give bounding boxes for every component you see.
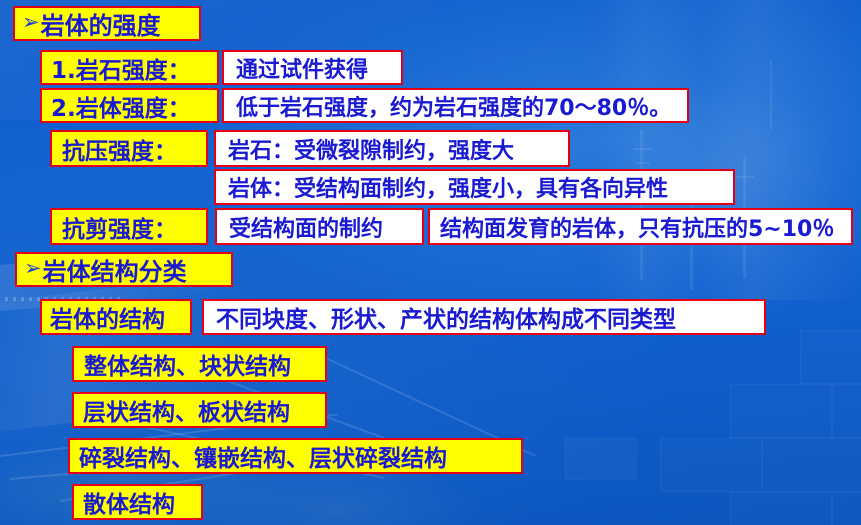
background-brick: [832, 384, 861, 438]
label-text: 1.岩石强度：: [51, 51, 191, 85]
background-brick-pattern: [560, 330, 861, 525]
label-rock-mass-strength: 2.岩体强度：: [40, 88, 219, 123]
value-text: 结构面发育的岩体，只有抗压的5~10％: [440, 211, 834, 243]
section-heading-rock-mass-structure-classification: ➢岩体结构分类: [15, 252, 233, 287]
value-text: 岩石：受微裂隙制约，强度大: [228, 133, 514, 165]
background-brick: [565, 438, 637, 480]
structure-type-item: 散体结构: [72, 484, 203, 520]
structure-type-item: 层状结构、板状结构: [72, 392, 327, 428]
value-text: 通过试件获得: [236, 52, 368, 84]
structure-type-item: 整体结构、块状结构: [72, 346, 327, 382]
presentation-slide: ➢岩体的强度 1.岩石强度： 通过试件获得 2.岩体强度： 低于岩石强度，约为岩…: [0, 0, 861, 525]
structure-type-label: 层状结构、板状结构: [83, 393, 290, 427]
background-tower-mast: [770, 60, 772, 130]
background-tower-arm: [636, 162, 650, 164]
section-heading-rock-mass-strength: ➢岩体的强度: [13, 6, 201, 41]
background-brick: [730, 492, 832, 525]
label-rock-strength: 1.岩石强度：: [40, 50, 219, 85]
background-tower-arm: [633, 148, 653, 150]
section-heading-label: 岩体结构分类: [43, 252, 187, 287]
structure-type-label: 碎裂结构、镶嵌结构、层状碎裂结构: [79, 439, 447, 473]
structure-type-label: 散体结构: [83, 485, 175, 519]
label-text: 岩体的结构: [50, 300, 165, 334]
label-shear-strength: 抗剪强度：: [50, 208, 208, 245]
background-brick: [762, 438, 861, 492]
value-text: 受结构面的制约: [229, 211, 383, 243]
value-text: 岩体：受结构面制约，强度小，具有各向异性: [228, 171, 668, 203]
value-rock-strength: 通过试件获得: [222, 50, 403, 85]
section-heading-label: 岩体的强度: [41, 6, 161, 41]
background-brick: [660, 438, 762, 492]
background-tower-mast: [640, 130, 643, 280]
value-shear-strength-ratio: 结构面发育的岩体，只有抗压的5~10％: [428, 208, 853, 245]
value-rock-mass-structure: 不同块度、形状、产状的结构体构成不同类型: [202, 299, 766, 335]
value-compressive-strength-rock: 岩石：受微裂隙制约，强度大: [214, 130, 570, 167]
structure-type-label: 整体结构、块状结构: [84, 347, 291, 381]
label-text: 2.岩体强度：: [51, 89, 191, 123]
label-text: 抗剪强度：: [62, 210, 177, 244]
structure-type-item: 碎裂结构、镶嵌结构、层状碎裂结构: [68, 438, 523, 474]
background-industrial-towers-image: [595, 0, 861, 300]
value-rock-mass-strength: 低于岩石强度，约为岩石强度的70～80％。: [222, 88, 689, 123]
background-brick: [800, 330, 861, 384]
background-brick: [730, 384, 832, 438]
label-compressive-strength: 抗压强度：: [50, 130, 208, 167]
arrow-bullet-icon: ➢: [22, 12, 40, 33]
background-tower-arm: [736, 176, 754, 178]
value-text: 不同块度、形状、产状的结构体构成不同类型: [216, 300, 676, 334]
label-text: 抗压强度：: [62, 132, 177, 166]
value-shear-strength-control: 受结构面的制约: [215, 208, 424, 245]
label-rock-mass-structure: 岩体的结构: [40, 299, 192, 335]
value-text: 低于岩石强度，约为岩石强度的70～80％。: [236, 90, 671, 122]
arrow-bullet-icon: ➢: [24, 258, 42, 279]
value-compressive-strength-rock-mass: 岩体：受结构面制约，强度小，具有各向异性: [214, 169, 735, 205]
background-brick: [832, 492, 861, 525]
